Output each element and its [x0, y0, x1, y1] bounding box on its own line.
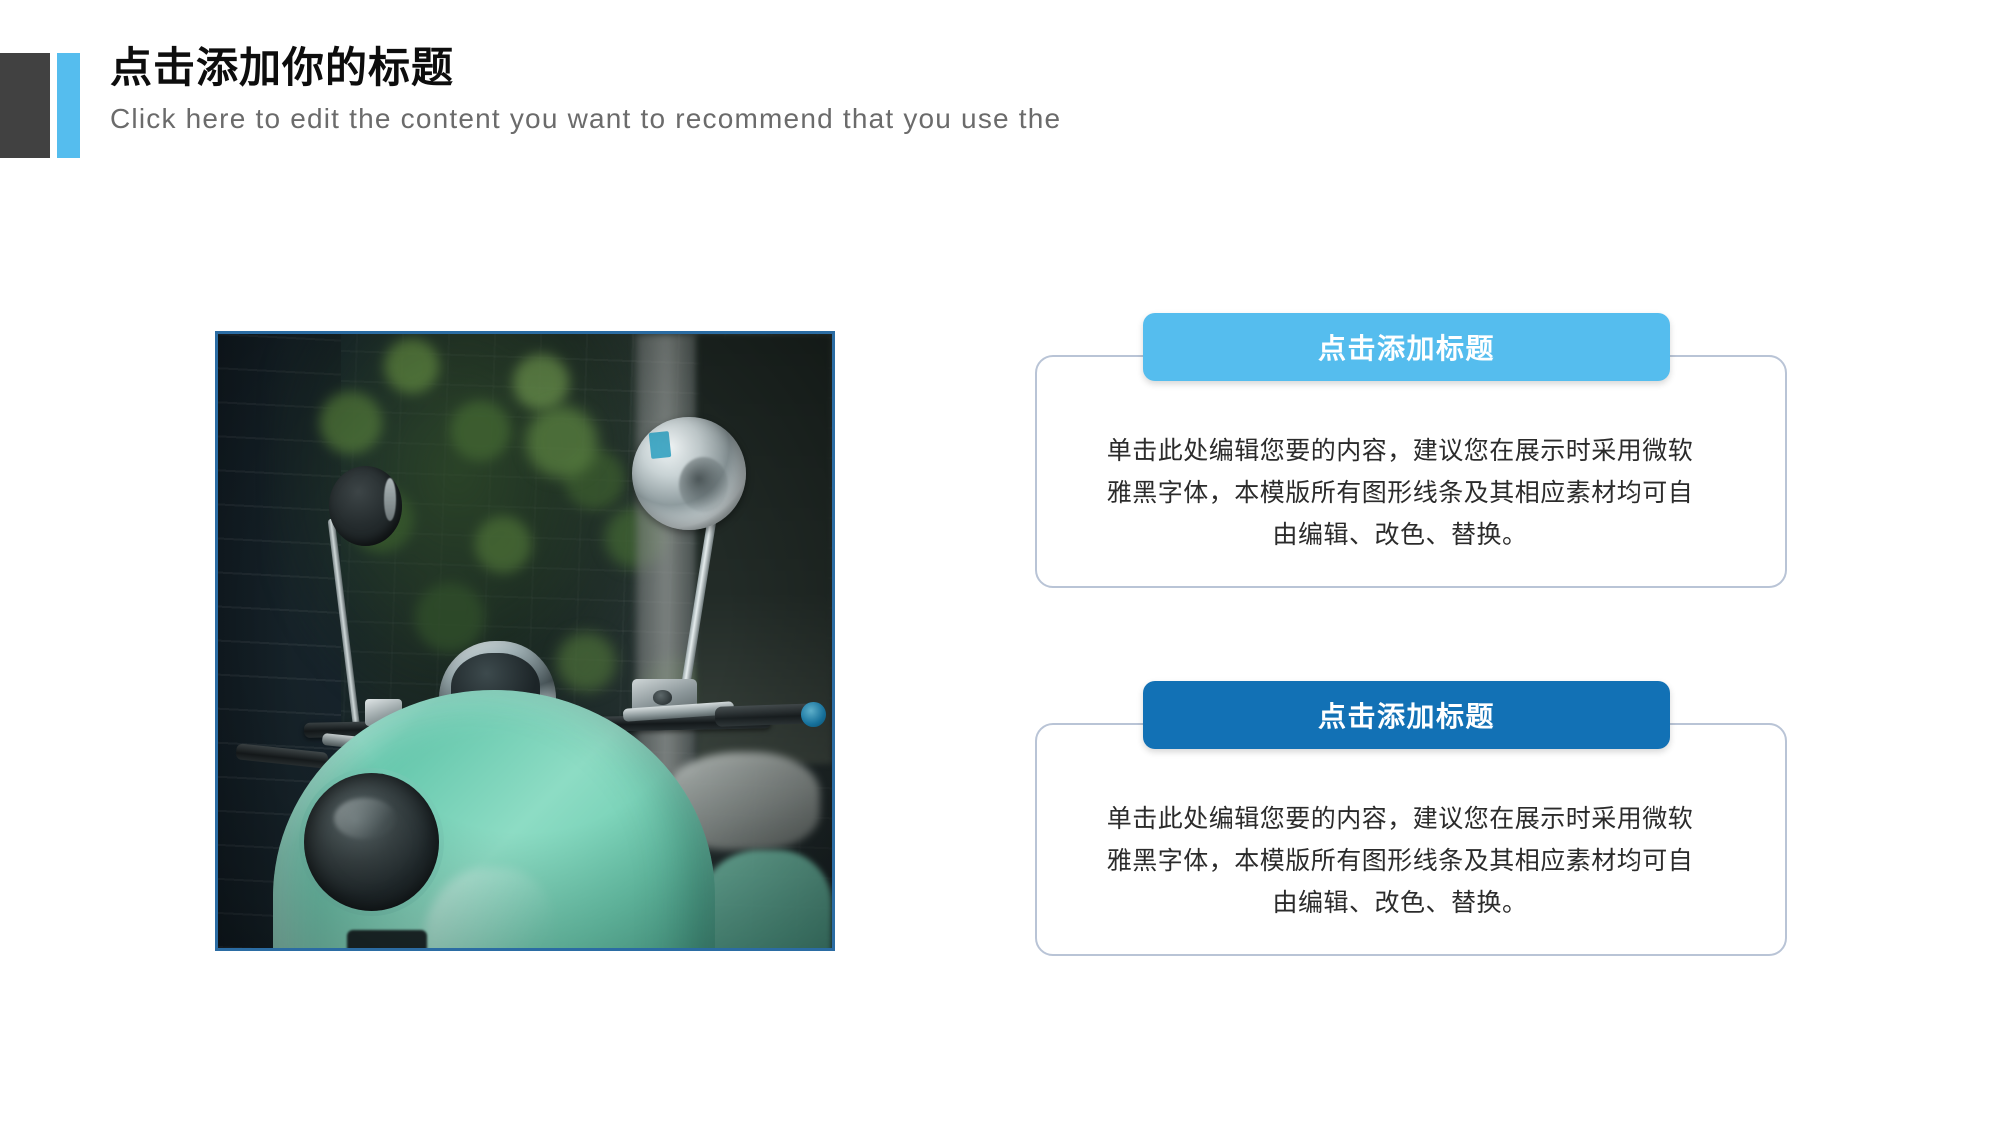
photo-inner — [218, 334, 832, 948]
header-text-block: 点击添加你的标题 Click here to edit the content … — [110, 42, 1310, 138]
header-accent-bar-blue — [57, 53, 80, 158]
slide-canvas: 点击添加你的标题 Click here to edit the content … — [0, 0, 2000, 1125]
page-subtitle: Click here to edit the content you want … — [110, 100, 1310, 138]
card-1-body: 单击此处编辑您要的内容，建议您在展示时采用微软雅黑字体，本模版所有图形线条及其相… — [1100, 430, 1700, 556]
card-2-heading[interactable]: 点击添加标题 — [1143, 681, 1670, 749]
card-1-heading[interactable]: 点击添加标题 — [1143, 313, 1670, 381]
card-2-body: 单击此处编辑您要的内容，建议您在展示时采用微软雅黑字体，本模版所有图形线条及其相… — [1100, 798, 1700, 924]
page-title: 点击添加你的标题 — [110, 42, 1310, 94]
header-accent-bar-dark — [0, 53, 50, 158]
photo-vignette — [218, 334, 832, 948]
scooter-photo — [215, 331, 835, 951]
